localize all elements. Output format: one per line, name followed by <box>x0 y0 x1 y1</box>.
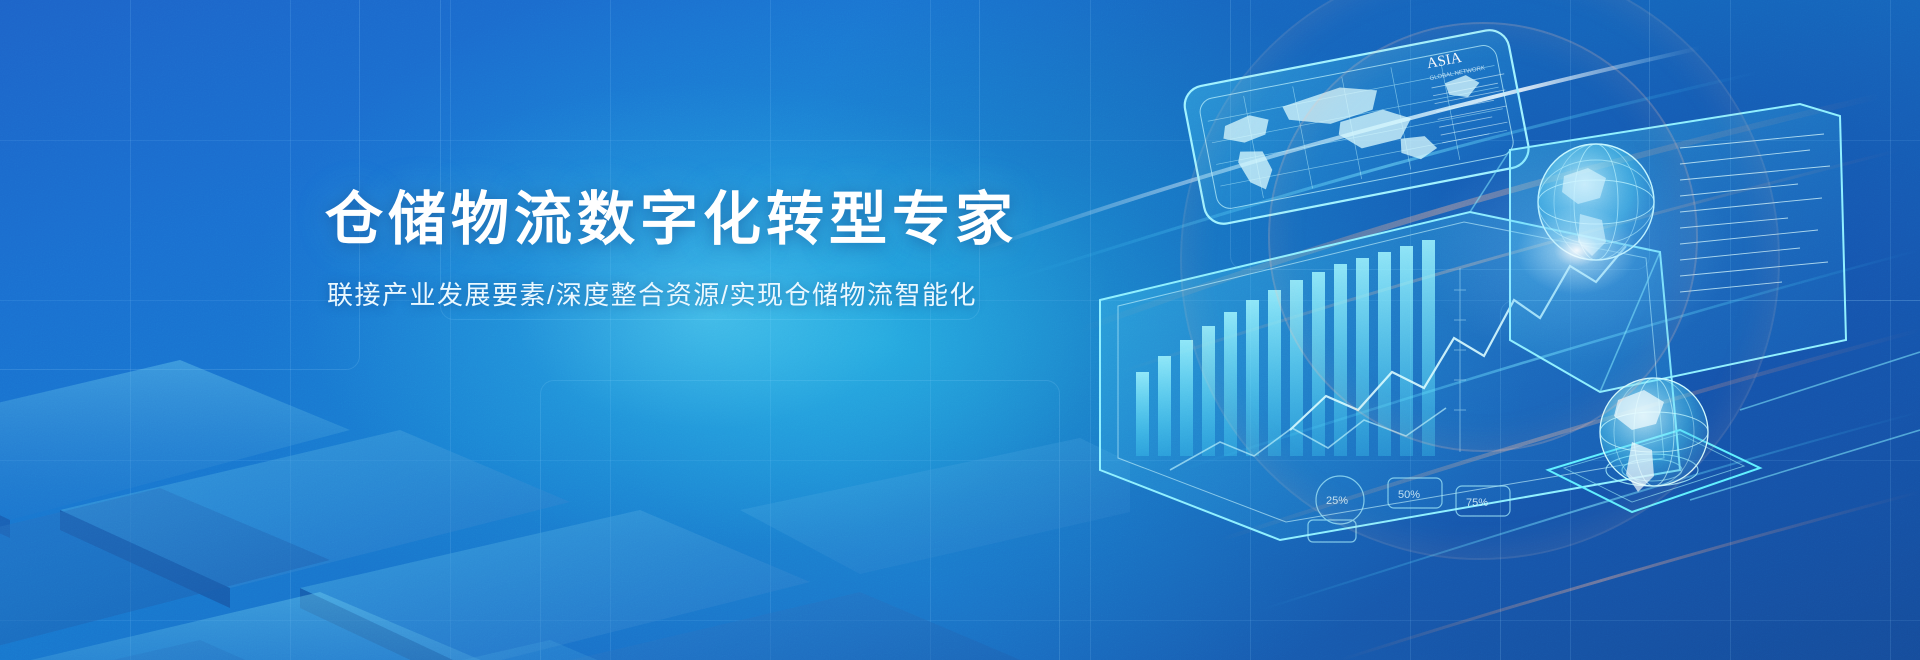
background-grid <box>0 0 1920 660</box>
globe-wireframe-upper <box>1538 144 1654 260</box>
globe-wireframe-lower <box>1548 378 1760 512</box>
light-streaks <box>0 0 1920 660</box>
map-panel-caption: GLOBAL NETWORK <box>1429 65 1485 82</box>
map-panel-label: ASIA <box>1425 50 1463 72</box>
data-text-panel <box>1510 104 1846 392</box>
chart-gauges <box>1308 476 1510 542</box>
grid-outline-box-right <box>1230 0 1650 270</box>
chart-label-2: 75% <box>1466 497 1488 509</box>
banner-copy: 仓储物流数字化转型专家 联接产业发展要素/深度整合资源/实现仓储物流智能化 <box>325 188 1045 312</box>
isometric-slab-field <box>0 320 1130 660</box>
grain-overlay <box>0 0 1920 660</box>
bar-chart-panel: 25% 50% 75% <box>1100 212 1680 542</box>
chart-label-0: 25% <box>1326 495 1348 507</box>
grid-outline-box-far-right <box>1500 300 1920 660</box>
lens-flare-ring-outer <box>1180 0 1780 560</box>
bar-chart-bars <box>1136 240 1435 456</box>
grid-outline-box-left <box>0 0 360 370</box>
line-chart-trend <box>1290 246 1626 430</box>
hero-banner: ASIA GLOBAL NETWORK <box>0 0 1920 660</box>
hud-artwork: ASIA GLOBAL NETWORK <box>1040 0 1920 560</box>
lens-flare <box>1400 140 1740 380</box>
center-glow <box>300 80 1120 550</box>
grid-outline-box-lower <box>540 380 1060 660</box>
banner-headline: 仓储物流数字化转型专家 <box>325 188 1045 253</box>
lens-flare-ring-inner <box>1268 22 1698 452</box>
chart-label-1: 50% <box>1398 489 1420 501</box>
world-map-panel: ASIA GLOBAL NETWORK <box>1181 27 1532 227</box>
banner-subheadline: 联接产业发展要素/深度整合资源/实现仓储物流智能化 <box>327 275 1045 312</box>
hud-connector-frames <box>1470 150 1920 500</box>
